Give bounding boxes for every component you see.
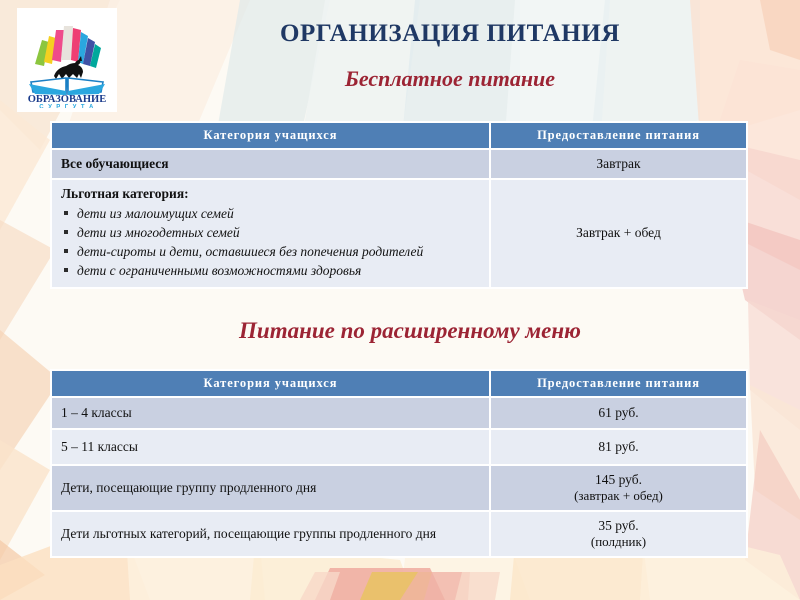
section-title-free-meals: Бесплатное питание bbox=[130, 66, 770, 92]
cell-price-grades-1-4: 61 руб. bbox=[491, 398, 746, 428]
logo-graphic: ОБРАЗОВАНИЕ С У Р Г У Т А bbox=[21, 12, 113, 108]
cell-price-privileged-extended-day: 35 руб. (полдник) bbox=[491, 512, 746, 556]
table-header-row: Категория учащихся Предоставление питани… bbox=[52, 371, 746, 396]
price-value: 145 руб. bbox=[500, 472, 737, 488]
privileged-category-heading: Льготная категория: bbox=[61, 186, 480, 202]
list-item: дети с ограниченными возможностями здоро… bbox=[61, 261, 480, 280]
column-header-provision: Предоставление питания bbox=[491, 371, 746, 396]
table-row: Дети, посещающие группу продленного дня … bbox=[52, 466, 746, 510]
table-row: Дети льготных категорий, посещающие груп… bbox=[52, 512, 746, 556]
column-header-category: Категория учащихся bbox=[52, 123, 489, 148]
privileged-category-list: дети из малоимущих семей дети из многоде… bbox=[61, 204, 480, 281]
cell-provision-breakfast-lunch: Завтрак + обед bbox=[491, 180, 746, 287]
table-extended-menu: Категория учащихся Предоставление питани… bbox=[50, 369, 748, 558]
cell-price-grades-5-11: 81 руб. bbox=[491, 430, 746, 464]
slide: ОБРАЗОВАНИЕ С У Р Г У Т А ОРГАНИЗАЦИЯ ПИ… bbox=[0, 0, 800, 600]
cell-price-extended-day-group: 145 руб. (завтрак + обед) bbox=[491, 466, 746, 510]
cell-category-all-students: Все обучающиеся bbox=[52, 150, 489, 178]
page-title: ОРГАНИЗАЦИЯ ПИТАНИЯ bbox=[130, 20, 770, 48]
cell-category-privileged: Льготная категория: дети из малоимущих с… bbox=[52, 180, 489, 287]
cell-category-privileged-extended-day: Дети льготных категорий, посещающие груп… bbox=[52, 512, 489, 556]
price-value: 35 руб. bbox=[500, 518, 737, 534]
column-header-provision: Предоставление питания bbox=[491, 123, 746, 148]
list-item: дети из малоимущих семей bbox=[61, 204, 480, 223]
section-title-extended-menu: Питание по расширенному меню bbox=[80, 318, 740, 344]
table-row: 5 – 11 классы 81 руб. bbox=[52, 430, 746, 464]
list-item: дети из многодетных семей bbox=[61, 223, 480, 242]
table-free-meals: Категория учащихся Предоставление питани… bbox=[50, 121, 748, 289]
cell-category-grades-1-4: 1 – 4 классы bbox=[52, 398, 489, 428]
cell-provision-breakfast: Завтрак bbox=[491, 150, 746, 178]
table-row: Все обучающиеся Завтрак bbox=[52, 150, 746, 178]
cell-category-grades-5-11: 5 – 11 классы bbox=[52, 430, 489, 464]
price-note: (завтрак + обед) bbox=[500, 488, 737, 504]
table-header-row: Категория учащихся Предоставление питани… bbox=[52, 123, 746, 148]
list-item: дети-сироты и дети, оставшиеся без попеч… bbox=[61, 242, 480, 261]
logo-text-primary: ОБРАЗОВАНИЕ bbox=[28, 94, 106, 105]
cell-category-extended-day-group: Дети, посещающие группу продленного дня bbox=[52, 466, 489, 510]
table-row: Льготная категория: дети из малоимущих с… bbox=[52, 180, 746, 287]
obrazovanie-surguta-logo: ОБРАЗОВАНИЕ С У Р Г У Т А bbox=[17, 8, 117, 112]
column-header-category: Категория учащихся bbox=[52, 371, 489, 396]
logo-text-secondary: С У Р Г У Т А bbox=[39, 105, 94, 109]
table-row: 1 – 4 классы 61 руб. bbox=[52, 398, 746, 428]
price-note: (полдник) bbox=[500, 534, 737, 550]
